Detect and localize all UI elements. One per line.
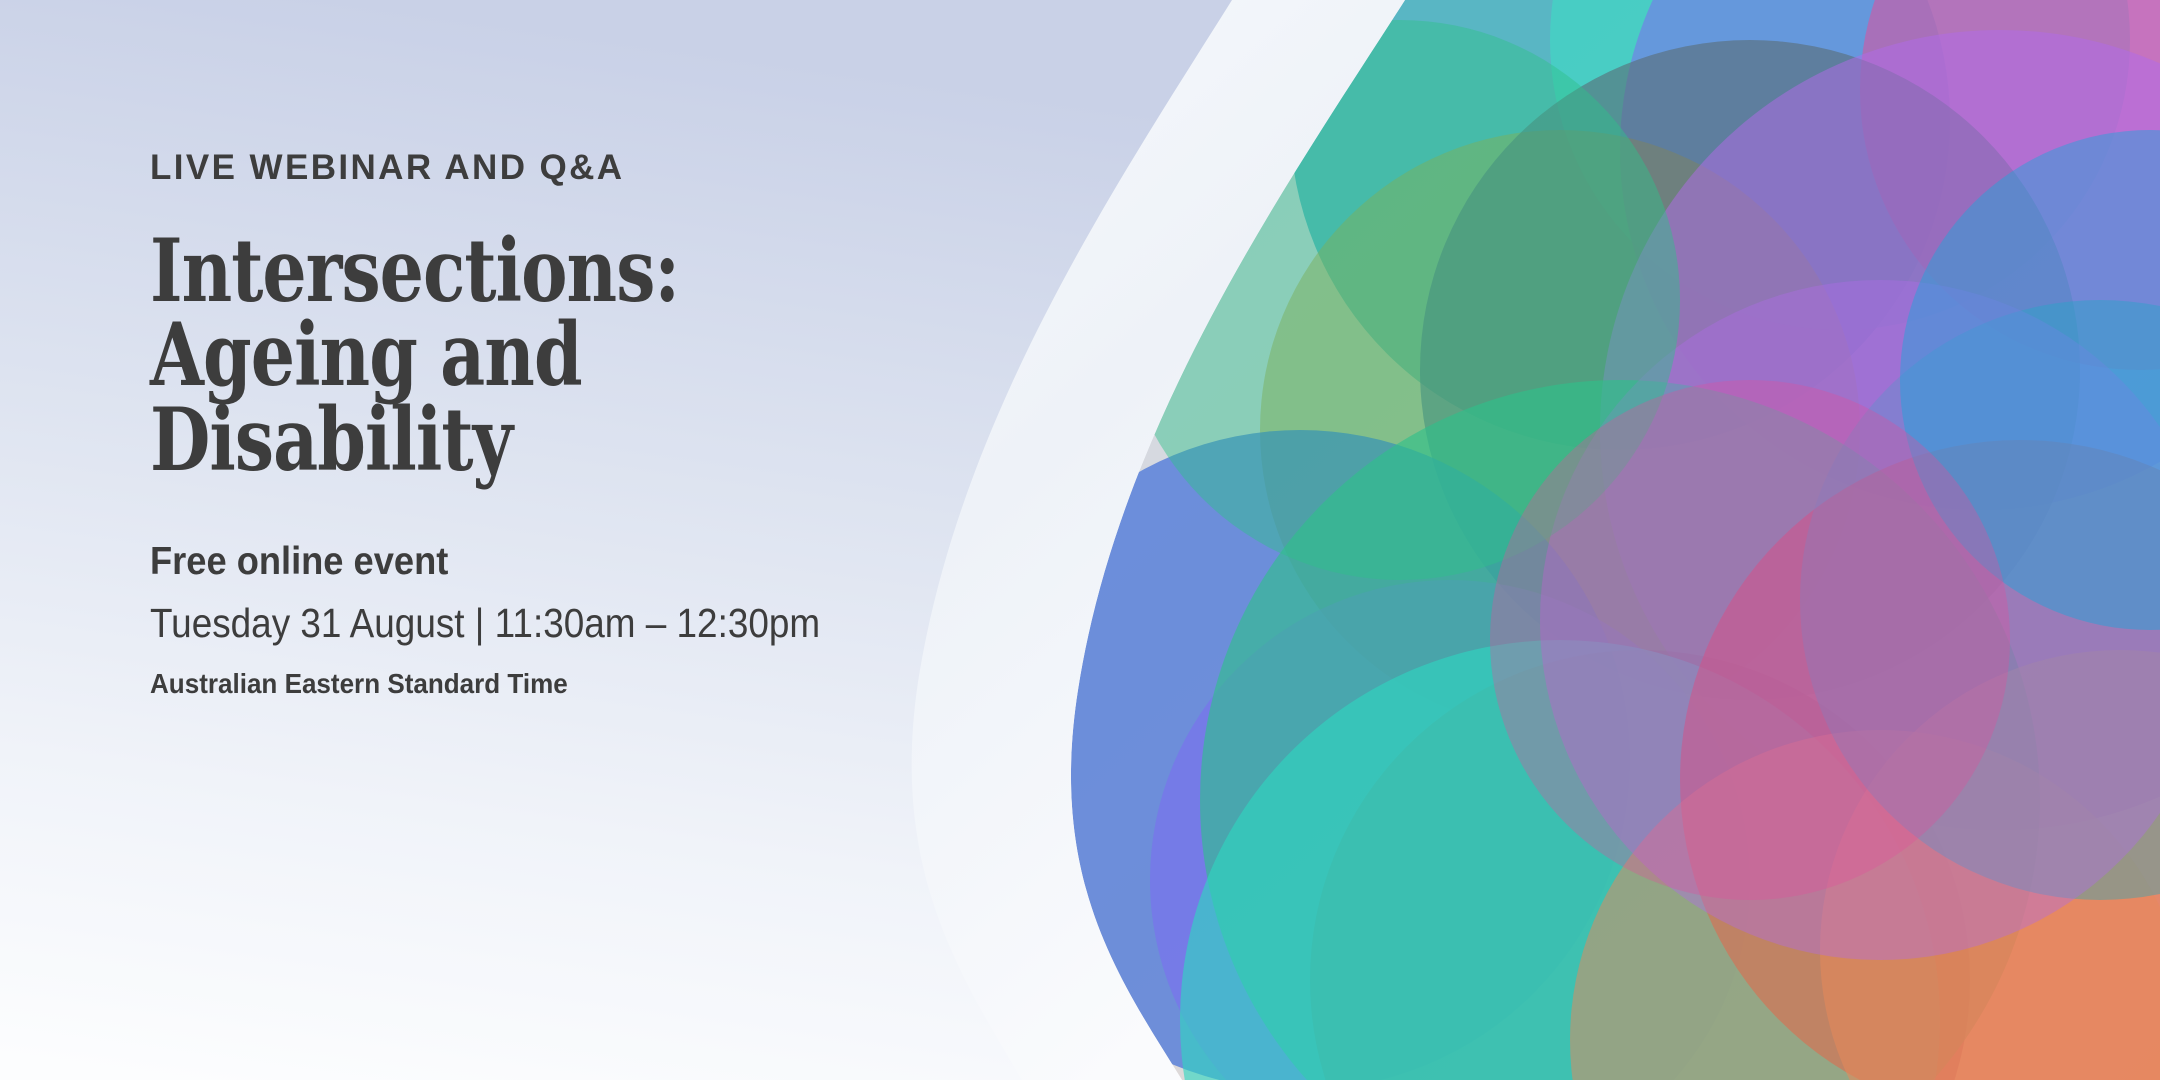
webinar-promo-banner: LIVE WEBINAR AND Q&A Intersections: Agei… bbox=[0, 0, 2160, 1080]
eyebrow-label: LIVE WEBINAR AND Q&A bbox=[150, 150, 970, 185]
page-title: Intersections: Ageing and Disability bbox=[150, 229, 806, 482]
text-content-column: LIVE WEBINAR AND Q&A Intersections: Agei… bbox=[150, 0, 970, 1080]
event-timezone: Australian Eastern Standard Time bbox=[150, 670, 913, 698]
event-cost-line: Free online event bbox=[150, 542, 913, 581]
event-datetime: Tuesday 31 August | 11:30am – 12:30pm bbox=[150, 603, 888, 644]
